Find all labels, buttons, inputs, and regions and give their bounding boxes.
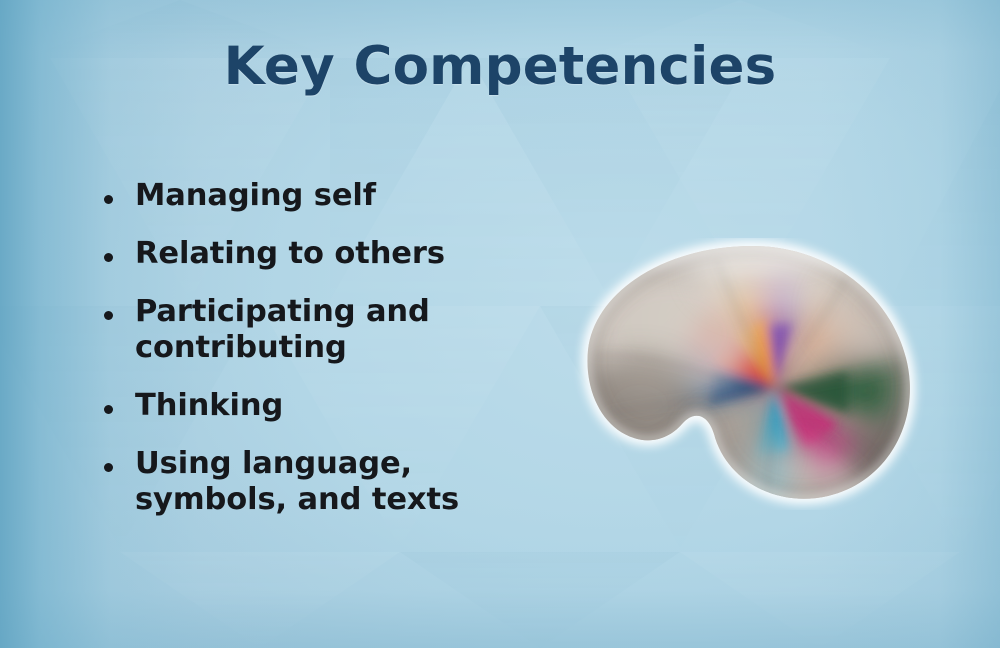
list-item: Using language, symbols, and texts (104, 446, 534, 518)
list-item-label: Relating to others (135, 236, 445, 272)
slide-title: Key Competencies (0, 36, 1000, 97)
list-item-label: Participating and contributing (135, 294, 430, 366)
list-item: Managing self (104, 178, 534, 214)
list-item: Participating and contributing (104, 294, 534, 366)
bullet-dot-icon (104, 463, 113, 472)
bullet-dot-icon (104, 405, 113, 414)
bullet-dot-icon (104, 253, 113, 262)
list-item-label: Using language, symbols, and texts (135, 446, 459, 518)
bullet-dot-icon (104, 311, 113, 320)
competency-list: Managing self Relating to others Partici… (104, 178, 534, 518)
bullet-dot-icon (104, 195, 113, 204)
nautilus-shell-logo (566, 238, 930, 510)
nautilus-shell-icon (566, 238, 930, 510)
list-item: Relating to others (104, 236, 534, 272)
list-item-label: Managing self (135, 178, 376, 214)
slide-canvas: Key Competencies Managing self Relating … (0, 0, 1000, 648)
list-item: Thinking (104, 388, 534, 424)
list-item-label: Thinking (135, 388, 283, 424)
